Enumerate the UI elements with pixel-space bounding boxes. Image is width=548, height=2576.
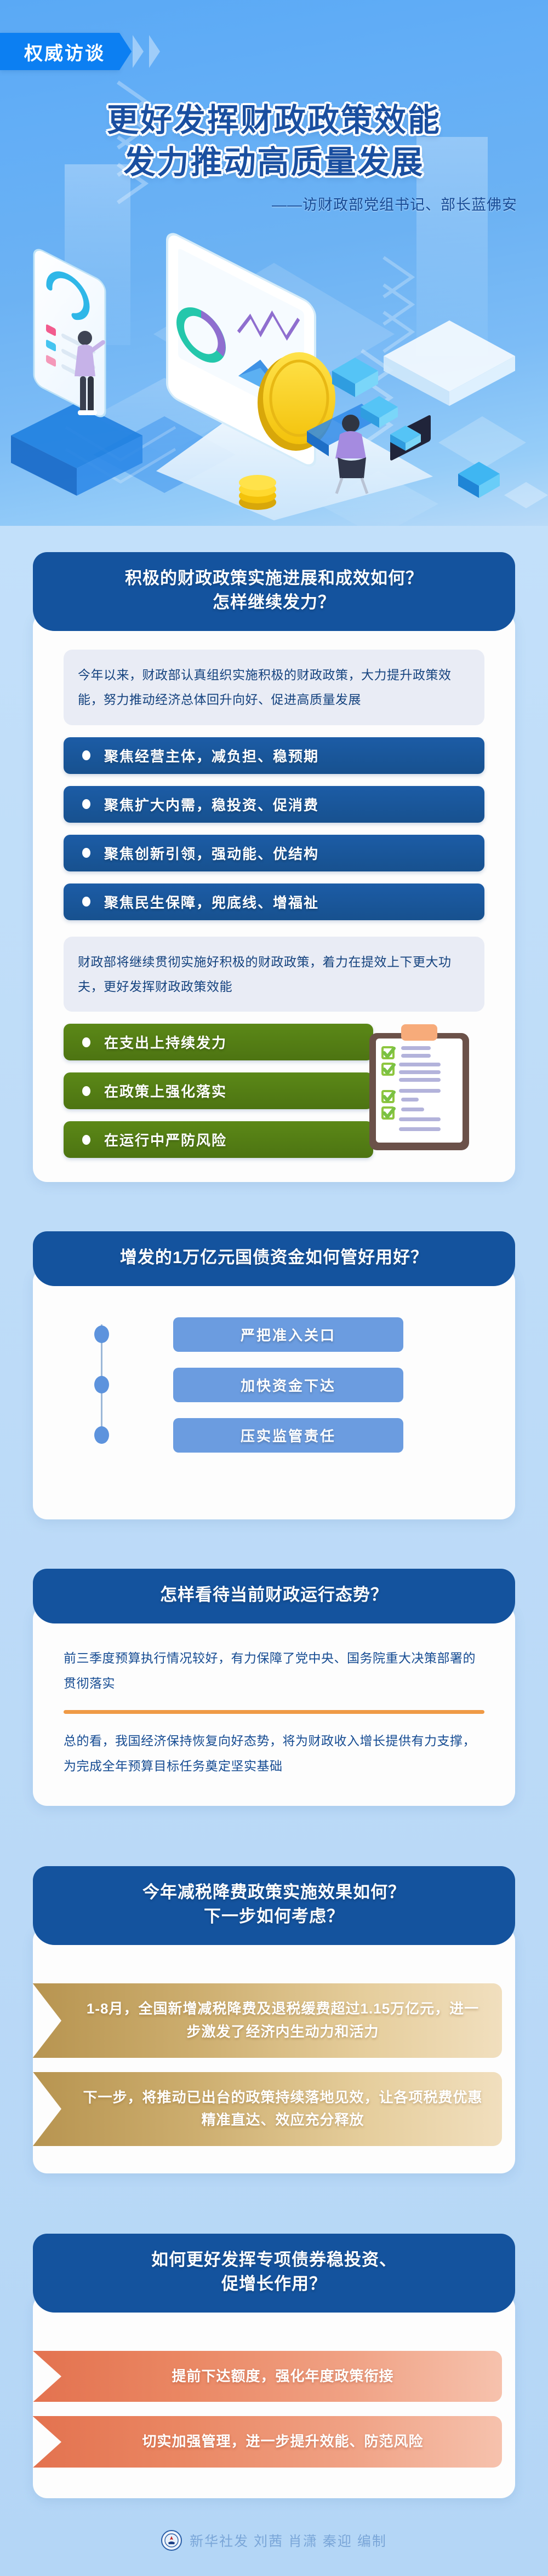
page-subtitle: ——访财政部党组书记、部长蓝佛安	[272, 193, 517, 214]
xinhua-logo-icon	[161, 2530, 182, 2551]
section-2-heading: 增发的1万亿元国债资金如何管好用好？	[33, 1231, 515, 1286]
timeline-dot-icon	[94, 1426, 109, 1444]
section-1-heading: 积极的财政政策实施进展和成效如何？ 怎样继续发力？	[33, 552, 515, 631]
spacer	[0, 1182, 548, 1231]
section-tag-badge: 权威访谈	[0, 33, 180, 70]
footer-credit: 新华社发 刘茜 肖潇 秦迎 编制	[0, 2498, 548, 2576]
timeline-dot-icon	[94, 1326, 109, 1343]
title-line-2: 发力推动高质量发展	[0, 142, 548, 184]
section-5-body: 提前下达额度，强化年度政策衔接 切实加强管理，进一步提升效能、防范风险	[33, 2313, 515, 2498]
heading-line-1: 增发的1万亿元国债资金如何管好用好？	[55, 1246, 493, 1270]
section-5-card: 提前下达额度，强化年度政策衔接 切实加强管理，进一步提升效能、防范风险	[33, 2294, 515, 2498]
spacer	[0, 2173, 548, 2234]
chevron-right-icon	[133, 35, 144, 68]
section-4-ribbon-1[interactable]: 1-8月，全国新增减税降费及退税缓费超过1.15万亿元，进一步激发了经济内生动力…	[33, 1983, 502, 2057]
heading-line-1: 积极的财政政策实施进展和成效如何？	[55, 566, 493, 590]
section-1-blue-pill-1[interactable]: 聚焦经营主体，减负担、稳预期	[64, 737, 484, 774]
bar-chart-platform	[384, 320, 515, 526]
section-1-intro-paragraph: 今年以来，财政部认真组织实施积极的财政政策，大力提升政策效能，努力推动经济总体回…	[64, 650, 484, 725]
section-4-ribbon-2[interactable]: 下一步，将推动已出台的政策持续落地见效，让各项税费优惠精准直达、效应充分释放	[33, 2072, 502, 2146]
footer-credit-text: 新华社发 刘茜 肖潇 秦迎 编制	[190, 2531, 387, 2550]
section-2-item-1[interactable]: 严把准入关口	[173, 1317, 403, 1352]
badge-label: 权威访谈	[0, 33, 119, 70]
heading-line-1: 怎样看待当前财政运行态势？	[55, 1583, 493, 1607]
page-title: 更好发挥财政政策效能 发力推动高质量发展	[0, 100, 548, 183]
section-5-heading: 如何更好发挥专项债券稳投资、 促增长作用？	[33, 2234, 515, 2313]
clipboard-checklist-icon	[367, 1022, 471, 1154]
section-1-body: 今年以来，财政部认真组织实施积极的财政政策，大力提升政策效能，努力推动经济总体回…	[33, 631, 515, 1182]
section-1-green-pill-3[interactable]: 在运行中严防风险	[64, 1121, 373, 1158]
section-4-body: 1-8月，全国新增减税降费及退税缓费超过1.15万亿元，进一步激发了经济内生动力…	[33, 1945, 515, 2173]
heading-line-2: 下一步如何考虑？	[55, 1904, 493, 1929]
spacer	[64, 1464, 484, 1495]
section-1-second-paragraph: 财政部将继续贯彻实施好积极的财政政策，着力在提效上下更大功夫，更好发挥财政政策效…	[64, 937, 484, 1012]
timeline-row: 加快资金下达	[64, 1359, 484, 1410]
section-3-heading: 怎样看待当前财政运行态势？	[33, 1569, 515, 1623]
gold-coin-stack	[239, 475, 276, 510]
isometric-finance-illustration	[0, 222, 548, 526]
section-1-green-pill-1[interactable]: 在支出上持续发力	[64, 1024, 373, 1060]
infographic-page: 权威访谈 更好发挥财政政策效能 发力推动高质量发展 ——访财政部党组书记、部长蓝…	[0, 0, 548, 2576]
heading-line-2: 怎样继续发力？	[55, 590, 493, 615]
section-5-ribbon-1[interactable]: 提前下达额度，强化年度政策衔接	[33, 2351, 502, 2402]
spacer	[0, 1519, 548, 1569]
section-3-paragraph-1: 前三季度预算执行情况较好，有力保障了党中央、国务院重大决策部署的贯彻落实	[64, 1645, 484, 1696]
section-1-green-pill-2[interactable]: 在政策上强化落实	[64, 1072, 373, 1109]
heading-line-1: 如何更好发挥专项债券稳投资、	[55, 2248, 493, 2272]
section-1: 积极的财政政策实施进展和成效如何？ 怎样继续发力？ 今年以来，财政部认真组织实施…	[0, 552, 548, 1182]
timeline-dot-icon	[94, 1376, 109, 1393]
section-1-card: 今年以来，财政部认真组织实施积极的财政政策，大力提升政策效能，努力推动经济总体回…	[33, 612, 515, 1182]
chevron-decoration	[133, 33, 180, 70]
title-line-1: 更好发挥财政政策效能	[0, 100, 548, 142]
section-3-card: 前三季度预算执行情况较好，有力保障了党中央、国务院重大决策部署的贯彻落实 总的看…	[33, 1605, 515, 1806]
heading-line-2: 促增长作用？	[55, 2272, 493, 2296]
section-5-ribbon-2[interactable]: 切实加强管理，进一步提升效能、防范风险	[33, 2416, 502, 2468]
section-2-body: 严把准入关口 加快资金下达 压实监管责任	[33, 1289, 515, 1519]
section-3-paragraph-2: 总的看，我国经济保持恢复向好态势，将为财政收入增长提供有力支撑，为完成全年预算目…	[64, 1728, 484, 1778]
timeline-row: 严把准入关口	[64, 1309, 484, 1359]
section-2: 增发的1万亿元国债资金如何管好用好？ 严把准入关口 加快资金下达	[0, 1231, 548, 1519]
section-2-timeline: 严把准入关口 加快资金下达 压实监管责任	[64, 1300, 484, 1464]
section-3-body: 前三季度预算执行情况较好，有力保障了党中央、国务院重大决策部署的贯彻落实 总的看…	[33, 1623, 515, 1806]
section-2-item-3[interactable]: 压实监管责任	[173, 1418, 403, 1453]
section-2-item-2[interactable]: 加快资金下达	[173, 1368, 403, 1402]
orange-divider	[64, 1710, 484, 1714]
section-3: 怎样看待当前财政运行态势？ 前三季度预算执行情况较好，有力保障了党中央、国务院重…	[0, 1569, 548, 1806]
section-1-blue-pill-3[interactable]: 聚焦创新引领，强动能、优结构	[64, 835, 484, 871]
chevron-right-icon	[149, 35, 160, 68]
section-1-blue-pill-4[interactable]: 聚焦民生保障，兜底线、增福祉	[64, 883, 484, 920]
timeline-row: 压实监管责任	[64, 1410, 484, 1460]
section-5: 如何更好发挥专项债券稳投资、 促增长作用？ 提前下达额度，强化年度政策衔接 切实…	[0, 2234, 548, 2498]
section-4-heading: 今年减税降费政策实施效果如何？ 下一步如何考虑？	[33, 1866, 515, 1945]
section-4-card: 1-8月，全国新增减税降费及退税缓费超过1.15万亿元，进一步激发了经济内生动力…	[33, 1926, 515, 2173]
section-1-blue-pill-2[interactable]: 聚焦扩大内需，稳投资、促消费	[64, 786, 484, 823]
hero-banner: 权威访谈 更好发挥财政政策效能 发力推动高质量发展 ——访财政部党组书记、部长蓝…	[0, 0, 548, 526]
section-4: 今年减税降费政策实施效果如何？ 下一步如何考虑？ 1-8月，全国新增减税降费及退…	[0, 1866, 548, 2173]
section-2-card: 严把准入关口 加快资金下达 压实监管责任	[33, 1267, 515, 1519]
heading-line-1: 今年减税降费政策实施效果如何？	[55, 1880, 493, 1904]
spacer	[0, 526, 548, 552]
spacer	[0, 1806, 548, 1866]
